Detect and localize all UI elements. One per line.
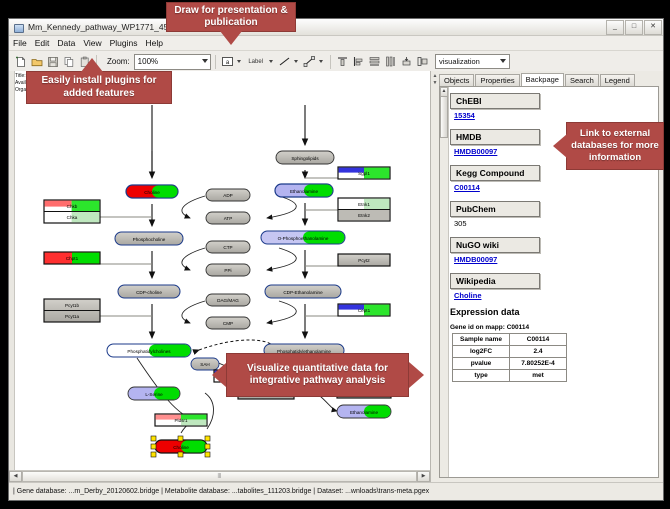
svg-text:Ethanolamine: Ethanolamine: [350, 410, 379, 415]
svg-text:L-Serine: L-Serine: [145, 392, 163, 397]
db-link-kegg[interactable]: C00114: [454, 183, 656, 192]
svg-text:CTP: CTP: [223, 245, 232, 250]
callout-visualize-arrow-right: [409, 362, 424, 388]
label-tool[interactable]: Label: [245, 54, 267, 69]
table-row: log2FC 2.4: [453, 346, 567, 358]
node-adp: ADP: [206, 189, 250, 201]
svg-text:CDP-choline: CDP-choline: [136, 290, 162, 295]
pathway-graph[interactable]: Sphingolipids Choline Ethanolamine ADP A…: [9, 71, 430, 482]
align-top-icon[interactable]: [335, 54, 350, 69]
side-panel-tabs: Objects Properties Backpage Search Legen…: [439, 73, 659, 86]
db-header-nugo-wiki: NuGO wiki: [450, 237, 540, 253]
svg-text:SAH: SAH: [200, 362, 209, 367]
svg-text:Sphingolipids: Sphingolipids: [291, 156, 319, 161]
zoom-combo[interactable]: 100%: [134, 54, 211, 70]
node-ppi: PPi: [206, 264, 250, 276]
node-o-phosphoethanolamine: O-Phosphoethanolamine: [261, 231, 345, 244]
svg-text:Etnk2: Etnk2: [358, 213, 370, 218]
menu-plugins[interactable]: Plugins: [110, 38, 143, 48]
datanode-dropdown-icon[interactable]: [237, 60, 241, 63]
tab-objects[interactable]: Objects: [439, 74, 474, 86]
chevron-down-icon: [500, 59, 506, 63]
window-controls: _ □ ✕: [606, 20, 663, 35]
line-icon[interactable]: [277, 54, 292, 69]
node-choline-top: Choline: [126, 185, 178, 198]
svg-text:PPi: PPi: [224, 268, 231, 273]
status-bar: | Gene database: ...m_Derby_20120602.bri…: [9, 482, 663, 500]
gene-cept1: Cept1: [338, 304, 390, 316]
align-left-icon[interactable]: [351, 54, 366, 69]
maximize-button[interactable]: □: [625, 20, 643, 35]
label-tool-text: Label: [248, 59, 263, 65]
node-ethanolamine-top: Ethanolamine: [275, 184, 333, 197]
tab-scroll-up-icon[interactable]: ▲: [433, 73, 438, 79]
menu-view[interactable]: View: [83, 38, 106, 48]
svg-text:Ethanolamine: Ethanolamine: [290, 189, 319, 194]
node-ctp: CTP: [206, 241, 250, 253]
line-dropdown-icon[interactable]: [294, 60, 298, 63]
svg-text:Pcyt2: Pcyt2: [358, 258, 370, 263]
gene-chpt1: Chpt1: [44, 252, 100, 264]
db-header-pubchem: PubChem: [450, 201, 540, 217]
table-row: type met: [453, 370, 567, 382]
align-columns-icon[interactable]: [383, 54, 398, 69]
tab-scroll-down-icon[interactable]: ▼: [433, 80, 438, 86]
main-area: Title: Availa Organi: [9, 71, 663, 482]
table-row: pvalue 7.80252E-4: [453, 358, 567, 370]
exp-val: 2.4: [510, 346, 567, 358]
gene-etnk1-etnk2: Etnk1Etnk2: [338, 198, 390, 221]
menu-help[interactable]: Help: [146, 38, 168, 48]
db-header-hmdb: HMDB: [450, 129, 540, 145]
svg-text:Pldsr1: Pldsr1: [174, 418, 187, 423]
menu-bar: File Edit Data View Plugins Help: [9, 36, 663, 51]
callout-links-arrow: [553, 134, 567, 158]
exp-val: 7.80252E-4: [510, 358, 567, 370]
gene-pcyt1b-pcyt1a: Pcyt1bPcyt1a: [44, 299, 100, 322]
callout-visualize-arrow-left: [212, 363, 226, 387]
db-value-pubchem: 305: [454, 219, 656, 228]
scroll-right-icon[interactable]: ▶: [417, 471, 430, 482]
align-rows-icon[interactable]: [367, 54, 382, 69]
db-link-nugo[interactable]: HMDB00097: [454, 255, 656, 264]
scrollbar-thumb[interactable]: [440, 96, 448, 138]
exp-key: log2FC: [453, 346, 510, 358]
callout-plugins-arrow: [81, 58, 103, 72]
tab-search[interactable]: Search: [565, 74, 599, 86]
datanode-icon[interactable]: a: [220, 54, 235, 69]
tab-properties[interactable]: Properties: [475, 74, 519, 86]
table-row: Sample name C00114: [453, 334, 567, 346]
title-bar: Mm_Kennedy_pathway_WP1771_45176.gpml _ □…: [9, 19, 663, 36]
menu-data[interactable]: Data: [57, 38, 80, 48]
tab-scroll-arrows[interactable]: ▲ ▼: [432, 73, 438, 86]
svg-text:Etnk1: Etnk1: [358, 202, 370, 207]
svg-text:Chkb: Chkb: [67, 204, 78, 209]
close-button[interactable]: ✕: [644, 20, 662, 35]
svg-text:Chka: Chka: [67, 215, 78, 220]
db-header-wikipedia: Wikipedia: [450, 273, 540, 289]
gene-chkb-chka: ChkbChka: [44, 200, 100, 223]
anchor-line-icon[interactable]: [302, 54, 317, 69]
expression-data-title: Expression data: [450, 307, 656, 317]
order-icon[interactable]: [415, 54, 430, 69]
tab-backpage[interactable]: Backpage: [521, 73, 564, 86]
svg-text:ADP: ADP: [223, 193, 232, 198]
svg-text:Pcyt1b: Pcyt1b: [65, 303, 79, 308]
svg-text:Cept1: Cept1: [358, 308, 371, 313]
exp-key: pvalue: [453, 358, 510, 370]
menu-file[interactable]: File: [13, 38, 32, 48]
toolbar-separator: [330, 55, 331, 69]
node-cdp-choline: CDP-choline: [118, 285, 180, 298]
expression-table: Sample name C00114 log2FC 2.4 pvalue 7.8…: [452, 333, 567, 382]
node-ethanolamine-right: Ethanolamine: [337, 405, 391, 418]
gene-pcyt2: Pcyt2: [338, 254, 390, 266]
svg-text:CMP: CMP: [223, 321, 233, 326]
new-file-icon[interactable]: [13, 54, 28, 69]
db-header-chebi: ChEBI: [450, 93, 540, 109]
scrollbar-track[interactable]: |||: [22, 471, 417, 482]
canvas-hscrollbar[interactable]: ◀ ||| ▶: [9, 470, 430, 482]
node-sphingolipids: Sphingolipids: [276, 151, 334, 164]
callout-draw: Draw for presentation & publication: [166, 2, 296, 32]
copy-icon[interactable]: [61, 54, 76, 69]
svg-text:Pcyt1a: Pcyt1a: [65, 314, 79, 319]
visualization-combo-value: visualization: [439, 57, 480, 66]
svg-text:ATP: ATP: [224, 216, 233, 221]
svg-text:Chpt1: Chpt1: [66, 256, 79, 261]
node-choline-selected: Choline: [151, 436, 210, 457]
db-link-wikipedia[interactable]: Choline: [454, 291, 656, 300]
status-text: | Gene database: ...m_Derby_20120602.bri…: [9, 488, 429, 495]
node-l-serine-left: L-Serine: [128, 387, 180, 400]
svg-text:CDP-Ethanolamine: CDP-Ethanolamine: [283, 290, 323, 295]
zoom-label: Zoom:: [107, 57, 130, 66]
label-dropdown-icon[interactable]: [269, 60, 273, 63]
svg-text:Choline: Choline: [173, 445, 189, 450]
pathway-canvas[interactable]: Title: Availa Organi: [9, 71, 431, 482]
stack-icon[interactable]: [399, 54, 414, 69]
app-icon: [13, 22, 24, 33]
node-cdp-ethanolamine: CDP-Ethanolamine: [265, 285, 341, 298]
svg-text:O-Phosphoethanolamine: O-Phosphoethanolamine: [278, 236, 329, 241]
callout-draw-arrow: [220, 31, 242, 45]
svg-text:Choline: Choline: [144, 190, 160, 195]
node-cmp: CMP: [206, 317, 250, 329]
minimize-button[interactable]: _: [606, 20, 624, 35]
db-header-kegg-compound: Kegg Compound: [450, 165, 540, 181]
svg-text:DAG/MAG: DAG/MAG: [217, 298, 239, 303]
open-folder-icon[interactable]: [29, 54, 44, 69]
svg-text:Sgpl1: Sgpl1: [358, 171, 370, 176]
db-link-chebi[interactable]: 15354: [454, 111, 656, 120]
callout-visualize: Visualize quantitative data for integrat…: [226, 353, 409, 397]
exp-key: Sample name: [453, 334, 510, 346]
tab-legend[interactable]: Legend: [600, 74, 635, 86]
toolbar: Zoom: 100% a Label: [9, 51, 663, 73]
chevron-down-icon: [202, 59, 208, 63]
node-phosphocholine: Phosphocholine: [115, 232, 183, 245]
exp-val: met: [510, 370, 567, 382]
callout-plugins: Easily install plugins for added feature…: [26, 71, 172, 104]
menu-edit[interactable]: Edit: [35, 38, 55, 48]
svg-text:Phosphatidylcholines: Phosphatidylcholines: [127, 349, 171, 354]
gene-sgpl1: Sgpl1: [338, 167, 390, 179]
toolbar-separator: [215, 55, 216, 69]
node-atp: ATP: [206, 212, 250, 224]
node-phosphatidylcholines: Phosphatidylcholines: [107, 344, 191, 357]
callout-links: Link to external databases for more info…: [566, 122, 664, 170]
exp-val: C00114: [510, 334, 567, 346]
exp-key: type: [453, 370, 510, 382]
save-icon[interactable]: [45, 54, 60, 69]
backpage-scrollbar[interactable]: ▲: [440, 87, 449, 477]
gene-pldsr1: Pldsr1: [155, 414, 207, 426]
scroll-left-icon[interactable]: ◀: [9, 471, 22, 482]
gene-id-label: Gene id on mapp: C00114: [450, 324, 656, 331]
anchor-dropdown-icon[interactable]: [319, 60, 323, 63]
zoom-value: 100%: [138, 57, 158, 66]
svg-text:Phosphocholine: Phosphocholine: [133, 237, 166, 242]
node-dag-mag: DAG/MAG: [206, 294, 250, 306]
visualization-combo[interactable]: visualization: [435, 54, 510, 69]
